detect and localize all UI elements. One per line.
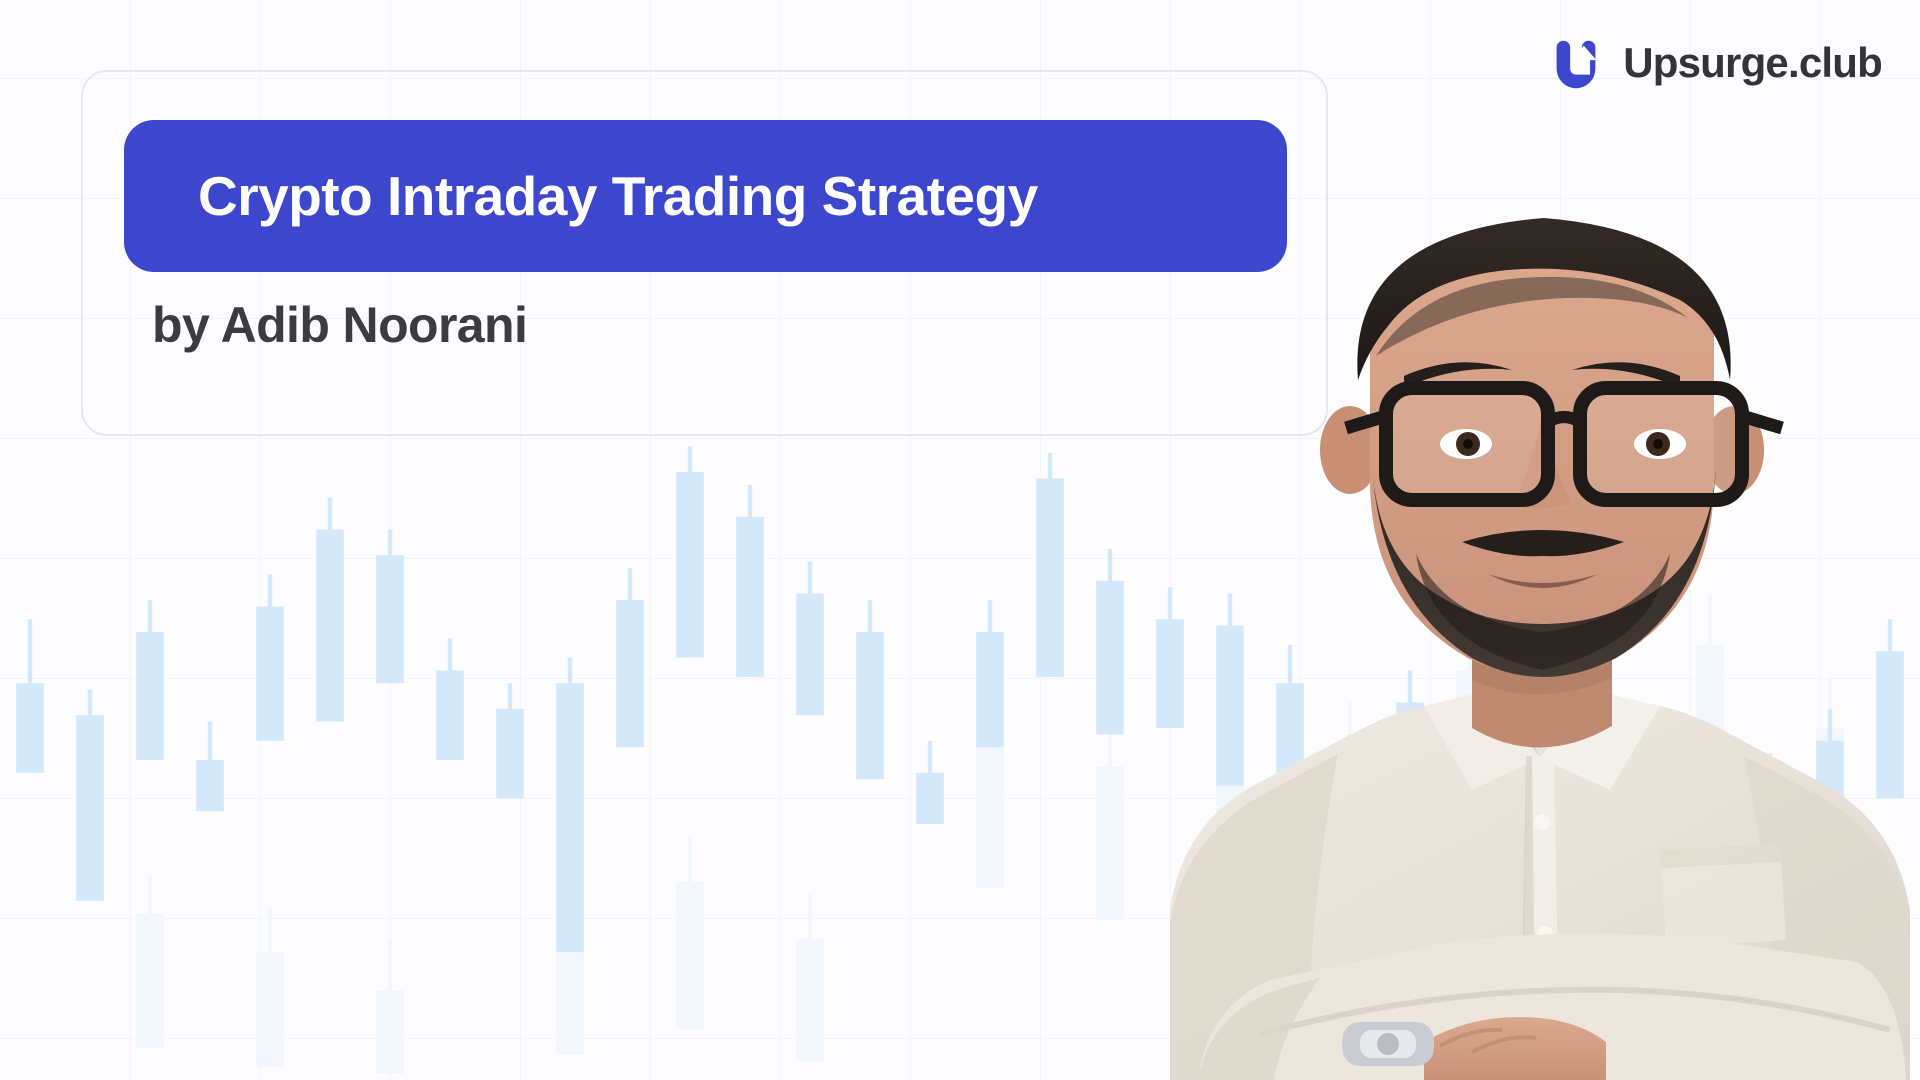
candle-body — [256, 606, 284, 740]
candle-body — [796, 594, 824, 716]
portrait-torso — [1170, 690, 1910, 1080]
title-badge: Crypto Intraday Trading Strategy — [124, 120, 1287, 272]
brand-name: Upsurge.club — [1623, 42, 1882, 84]
candle-body — [376, 555, 404, 683]
slide-canvas: Crypto Intraday Trading Strategy by Adib… — [0, 0, 1920, 1080]
page-title: Crypto Intraday Trading Strategy — [198, 169, 1038, 224]
candle-body — [376, 990, 404, 1073]
candle-body — [796, 939, 824, 1061]
candle-body — [916, 773, 944, 824]
candle-body — [196, 760, 224, 811]
candle-body — [676, 882, 704, 1029]
candle-body — [616, 600, 644, 747]
candle-body — [16, 683, 44, 773]
byline: by Adib Noorani — [152, 300, 527, 350]
candle-body — [496, 709, 524, 799]
upsurge-u-arrow-icon — [1545, 32, 1607, 94]
portrait-head — [1320, 218, 1782, 677]
candle-body — [136, 632, 164, 760]
candle-body — [976, 632, 1004, 747]
candle-body — [76, 715, 104, 901]
candle-body — [556, 683, 584, 952]
candle-body — [436, 670, 464, 760]
wristwatch — [1342, 1022, 1434, 1066]
candle-body — [256, 952, 284, 1067]
candle-body — [136, 914, 164, 1048]
brand-logo[interactable]: Upsurge.club — [1545, 32, 1882, 94]
candle-body — [316, 530, 344, 722]
candle-body — [736, 517, 764, 677]
candle-body — [856, 632, 884, 779]
candle-body — [676, 472, 704, 658]
